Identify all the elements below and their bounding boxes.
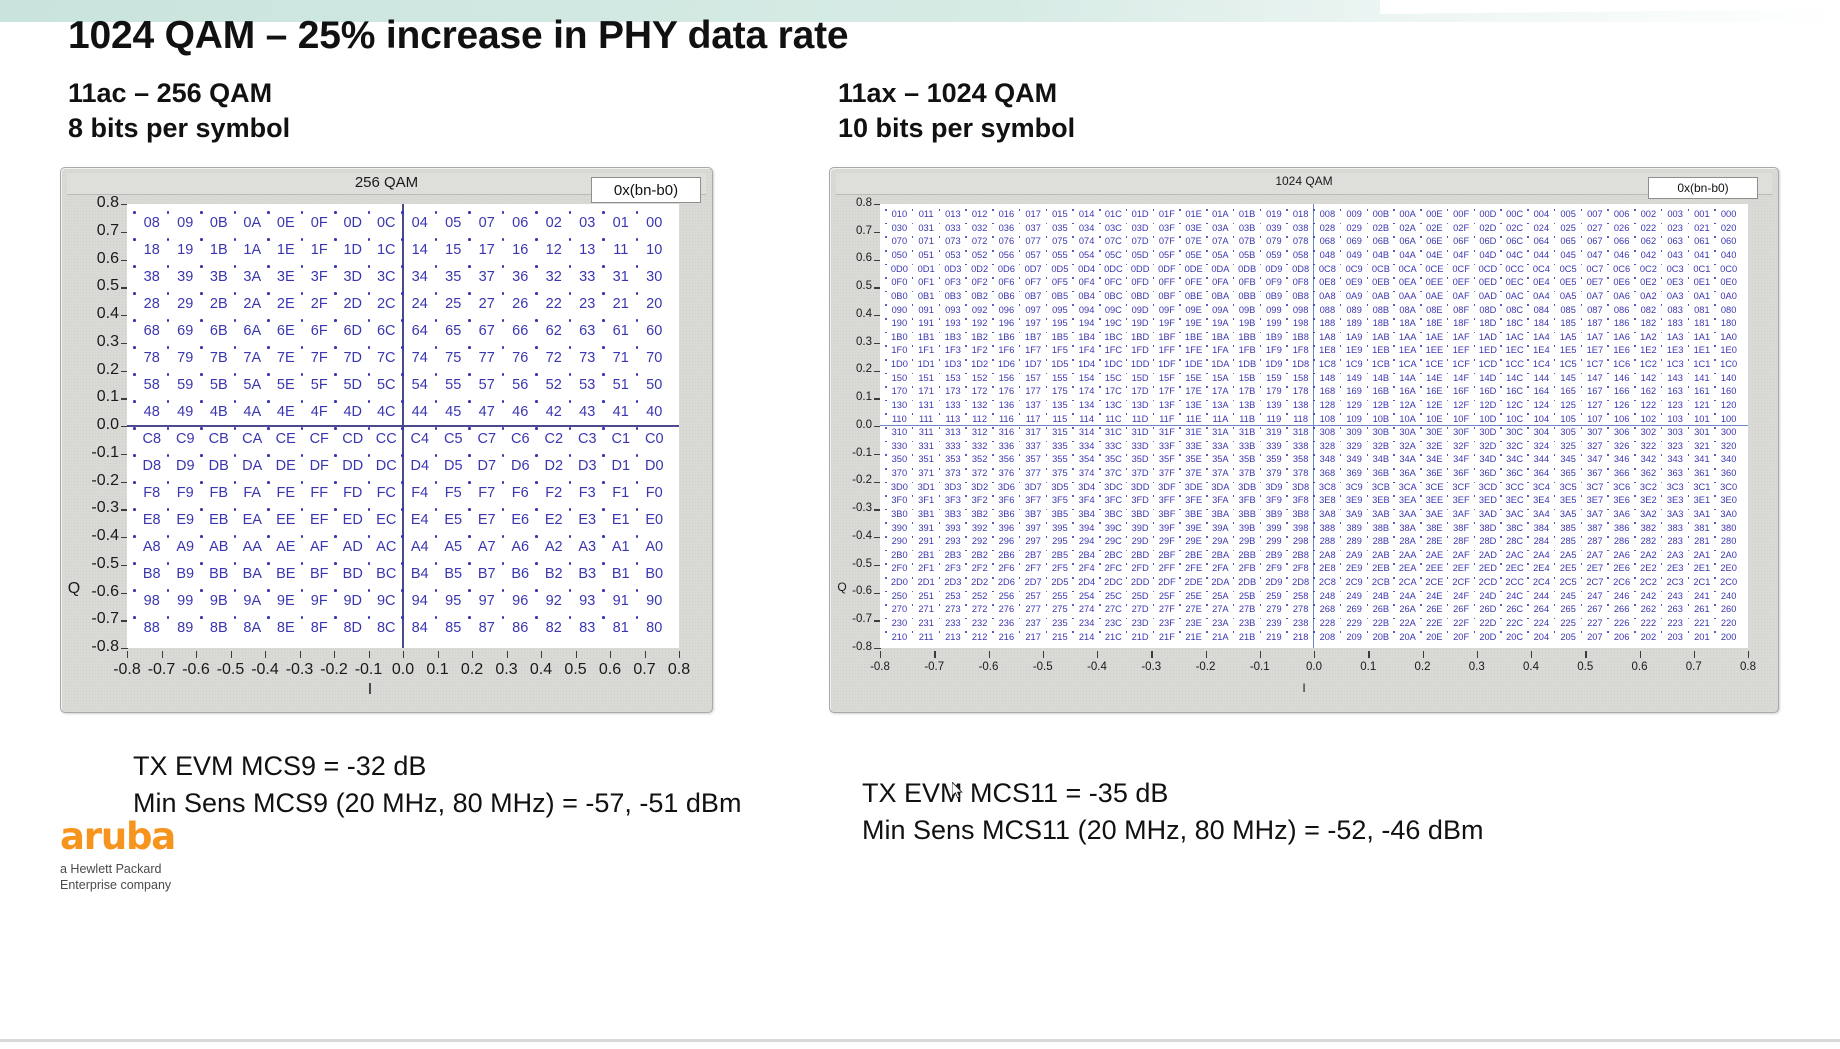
constellation-dot-icon: [1046, 522, 1048, 524]
constellation-point-label: 23B: [1239, 619, 1256, 628]
constellation-point: 0ED: [1475, 276, 1502, 290]
constellation-dot-icon: [1046, 373, 1048, 375]
constellation-dot-icon: [1260, 209, 1262, 211]
constellation-point-label: 38F: [1453, 524, 1469, 533]
constellation-point: 1AC: [1501, 331, 1528, 345]
constellation-point-label: 29B: [1239, 537, 1256, 546]
constellation-point: BD: [336, 561, 370, 588]
constellation-point-label: 32C: [1506, 442, 1523, 451]
constellation-point-label: 311: [919, 428, 934, 437]
constellation-dot-icon: [1313, 550, 1315, 552]
constellation-point: 0F: [303, 210, 337, 237]
constellation-point: 0D7: [1020, 263, 1047, 277]
constellation-point: 251: [913, 590, 940, 604]
constellation-point-label: 214: [1079, 633, 1095, 642]
constellation-point-label: D1: [611, 459, 630, 474]
constellation-dot-icon: [1688, 345, 1690, 347]
constellation-point: 29: [169, 291, 203, 318]
constellation-point: BA: [236, 561, 270, 588]
constellation-row: 48494B4A4E4F4D4C4445474642434140: [135, 399, 671, 426]
constellation-dot-icon: [1153, 304, 1155, 306]
constellation-point: 07E: [1180, 235, 1207, 249]
constellation-dot-icon: [468, 589, 471, 592]
constellation-point-label: 04A: [1399, 251, 1416, 260]
constellation-dot-icon: [1714, 373, 1716, 375]
chart-title-1024qam: 1024 QAM: [836, 174, 1772, 188]
constellation-dot-icon: [912, 495, 914, 497]
constellation-dot-icon: [1661, 631, 1663, 633]
constellation-point: 12: [537, 237, 571, 264]
constellation-point: 18B: [1368, 317, 1395, 331]
constellation-dot-icon: [1072, 563, 1074, 565]
constellation-dot-icon: [1099, 454, 1101, 456]
constellation-dot-icon: [1420, 427, 1422, 429]
constellation-point-label: 265: [1560, 605, 1576, 614]
constellation-point: A2: [537, 534, 571, 561]
constellation-point: 06E: [1421, 235, 1448, 249]
constellation-dot-icon: [602, 562, 605, 565]
constellation-point: 394: [1073, 521, 1100, 535]
constellation-point: 215: [1047, 630, 1074, 644]
constellation-dot-icon: [468, 508, 471, 511]
constellation-point: 354: [1073, 453, 1100, 467]
constellation-point-label: 081: [1694, 306, 1710, 315]
constellation-point: 7C: [370, 345, 404, 372]
constellation-dot-icon: [885, 304, 887, 306]
constellation-point-label: 05E: [1185, 251, 1202, 260]
constellation-point-label: 06D: [1479, 237, 1496, 246]
constellation-dot-icon: [1500, 318, 1502, 320]
constellation-dot-icon: [1634, 604, 1636, 606]
constellation-point: 94: [403, 588, 437, 615]
constellation-dot-icon: [1527, 591, 1529, 593]
constellation-point-label: 200: [1721, 633, 1737, 642]
constellation-point: 32C: [1501, 440, 1528, 454]
constellation-point: 066: [1608, 235, 1635, 249]
constellation-point-label: 29E: [1185, 537, 1202, 546]
constellation-dot-icon: [1286, 413, 1288, 415]
constellation-point-label: 340: [1721, 455, 1737, 464]
constellation-dot-icon: [992, 577, 994, 579]
constellation-point: 2C5: [1555, 576, 1582, 590]
constellation-point-label: 271: [918, 605, 934, 614]
constellation-point: 19: [169, 237, 203, 264]
constellation-point: 186: [1608, 317, 1635, 331]
constellation-dot-icon: [912, 359, 914, 361]
constellation-dot-icon: [992, 618, 994, 620]
constellation-point: 305: [1555, 426, 1582, 440]
constellation-point: 048: [1314, 249, 1341, 263]
constellation-point: C8: [135, 426, 169, 453]
constellation-point-label: 390: [892, 524, 908, 533]
constellation-dot-icon: [1581, 468, 1583, 470]
constellation-point: 3EC: [1501, 494, 1528, 508]
constellation-dot-icon: [1019, 522, 1021, 524]
constellation-dot-icon: [1153, 563, 1155, 565]
constellation-dot-icon: [368, 427, 371, 430]
constellation-point: A9: [169, 534, 203, 561]
constellation-point-label: 3A6: [1613, 510, 1630, 519]
constellation-dot-icon: [1688, 604, 1690, 606]
constellation-point-label: 1C2: [1640, 360, 1657, 369]
constellation-point: 32D: [1475, 440, 1502, 454]
constellation-point-label: 18B: [1373, 319, 1390, 328]
constellation-dot-icon: [992, 413, 994, 415]
constellation-dot-icon: [912, 223, 914, 225]
constellation-point: 286: [1608, 535, 1635, 549]
constellation-point: 370: [886, 467, 913, 481]
constellation-point-label: 065: [1560, 237, 1576, 246]
constellation-point-label: 093: [945, 306, 961, 315]
constellation-point-label: 11E: [1186, 415, 1202, 424]
constellation-point: 362: [1635, 467, 1662, 481]
constellation-point: 33D: [1127, 440, 1154, 454]
constellation-point: 3E5: [1555, 494, 1582, 508]
constellation-dot-icon: [1661, 550, 1663, 552]
constellation-point: 23B: [1234, 617, 1261, 631]
constellation-point-label: 31: [613, 270, 629, 285]
constellation-dot-icon: [912, 209, 914, 211]
constellation-dot-icon: [1233, 318, 1235, 320]
constellation-point: 34C: [1501, 453, 1528, 467]
constellation-point: 1DA: [1207, 358, 1234, 372]
constellation-point: AB: [202, 534, 236, 561]
constellation-point-label: 233: [945, 619, 961, 628]
constellation-point: 10A: [1394, 412, 1421, 426]
constellation-point: 262: [1635, 603, 1662, 617]
constellation-point-label: 0AD: [1479, 292, 1497, 301]
constellation-point-label: 235: [1052, 619, 1068, 628]
constellation-point: 1E1: [1689, 344, 1716, 358]
constellation-point: 28: [135, 291, 169, 318]
constellation-point: 5A: [236, 372, 270, 399]
constellation-point: 1AD: [1475, 331, 1502, 345]
constellation-point: 3C3: [1662, 481, 1689, 495]
constellation-point-label: 2C7: [1586, 578, 1603, 587]
constellation-point-label: C2: [544, 432, 563, 447]
constellation-point-label: 1FC: [1105, 346, 1123, 355]
constellation-point: 1E6: [1608, 344, 1635, 358]
constellation-dot-icon: [912, 509, 914, 511]
constellation-dot-icon: [1527, 332, 1529, 334]
constellation-point-label: 3A8: [1319, 510, 1336, 519]
constellation-point-label: 066: [1614, 237, 1630, 246]
constellation-point: 138: [1287, 399, 1314, 413]
constellation-point-label: 14F: [1453, 374, 1469, 383]
constellation-dot-icon: [992, 332, 994, 334]
constellation-point-label: 043: [1667, 251, 1683, 260]
constellation-dot-icon: [1046, 454, 1048, 456]
constellation-point: 2F9: [1261, 562, 1288, 576]
constellation-point-label: DD: [342, 459, 363, 474]
constellation-point-label: 1F3: [945, 346, 961, 355]
constellation-point: 21D: [1127, 630, 1154, 644]
constellation-point: 09E: [1180, 303, 1207, 317]
constellation-point: 133: [940, 399, 967, 413]
constellation-point: 083: [1662, 303, 1689, 317]
constellation-point: 169: [1341, 385, 1368, 399]
constellation-point-label: 262: [1641, 605, 1657, 614]
constellation-dot-icon: [1474, 631, 1476, 633]
constellation-point: 1B: [202, 237, 236, 264]
constellation-point-label: 14E: [1426, 374, 1443, 383]
constellation-dot-icon: [602, 454, 605, 457]
constellation-point-label: 8E: [277, 621, 295, 636]
constellation-dot-icon: [1286, 359, 1288, 361]
constellation-dot-icon: [468, 265, 471, 268]
constellation-dot-icon: [1554, 209, 1556, 211]
constellation-dot-icon: [1340, 482, 1342, 484]
constellation-dot-icon: [965, 304, 967, 306]
constellation-point-label: 24D: [1479, 592, 1496, 601]
constellation-point-label: 21E: [1185, 633, 1202, 642]
constellation-dot-icon: [1527, 550, 1529, 552]
constellation-point: 312: [966, 426, 993, 440]
constellation-point: E8: [135, 507, 169, 534]
constellation-dot-icon: [1688, 264, 1690, 266]
constellation-point-label: 248: [1320, 592, 1336, 601]
constellation-dot-icon: [1046, 318, 1048, 320]
constellation-point-label: 26: [512, 297, 528, 312]
constellation-point: 234: [1073, 617, 1100, 631]
constellation-dot-icon: [1393, 482, 1395, 484]
constellation-dot-icon: [1367, 495, 1369, 497]
constellation-point: 3C4: [1528, 481, 1555, 495]
constellation-dot-icon: [267, 238, 270, 241]
constellation-point: 0B8: [1287, 290, 1314, 304]
constellation-dot-icon: [167, 238, 170, 241]
constellation-point-label: 3D1: [918, 483, 935, 492]
constellation-point: 252: [966, 590, 993, 604]
constellation-dot-icon: [133, 238, 136, 241]
constellation-point-label: 354: [1079, 455, 1095, 464]
constellation-dot-icon: [1046, 604, 1048, 606]
constellation-point: 03A: [1207, 222, 1234, 236]
constellation-point-label: 318: [1293, 428, 1309, 437]
constellation-dot-icon: [1019, 209, 1021, 211]
constellation-point-label: 19E: [1185, 319, 1202, 328]
constellation-point-label: 1DD: [1131, 360, 1150, 369]
constellation-point-label: 272: [972, 605, 988, 614]
constellation-point: 11B: [1234, 412, 1261, 426]
constellation-point-label: 00B: [1373, 210, 1390, 219]
constellation-point-label: 2AF: [1453, 551, 1470, 560]
constellation-point: 3F5: [1047, 494, 1074, 508]
constellation-dot-icon: [1688, 536, 1690, 538]
constellation-point: 158: [1287, 372, 1314, 386]
constellation-point: 14: [403, 237, 437, 264]
constellation-point: 0A2: [1635, 290, 1662, 304]
x-axis-tick-mark: [1640, 651, 1641, 658]
constellation-dot-icon: [1179, 264, 1181, 266]
constellation-point: 141: [1689, 372, 1716, 386]
constellation-point-label: 086: [1614, 306, 1630, 315]
constellation-dot-icon: [1607, 550, 1609, 552]
constellation-dot-icon: [1634, 318, 1636, 320]
constellation-row: 18191B1A1E1F1D1C1415171612131110: [135, 237, 671, 264]
constellation-dot-icon: [234, 589, 237, 592]
constellation-dot-icon: [1661, 427, 1663, 429]
constellation-point-label: 085: [1560, 306, 1576, 315]
constellation-point-label: 0B8: [1292, 292, 1309, 301]
constellation-point: 3FC: [1100, 494, 1127, 508]
constellation-dot-icon: [1367, 454, 1369, 456]
constellation-point: 2AD: [1475, 549, 1502, 563]
constellation-dot-icon: [1554, 550, 1556, 552]
constellation-point: 3EA: [1394, 494, 1421, 508]
constellation-point: 3FA: [1207, 494, 1234, 508]
legend-box-256qam[interactable]: 0x(bn-b0): [591, 177, 701, 203]
constellation-dot-icon: [939, 318, 941, 320]
constellation-point: 279: [1261, 603, 1288, 617]
x-axis-tick-mark: [989, 651, 990, 658]
constellation-point: 367: [1582, 467, 1609, 481]
y-axis-tick-label: 0.6: [67, 250, 119, 268]
constellation-point: 1E7: [1582, 344, 1609, 358]
constellation-dot-icon: [1126, 264, 1128, 266]
constellation-dot-icon: [234, 427, 237, 430]
constellation-point-label: 094: [1079, 306, 1095, 315]
constellation-point-label: 330: [892, 442, 908, 451]
constellation-dot-icon: [1046, 236, 1048, 238]
constellation-point: 1E0: [1715, 344, 1742, 358]
constellation-point: 06: [504, 210, 538, 237]
constellation-point-label: 15D: [1132, 374, 1149, 383]
constellation-dot-icon: [1046, 400, 1048, 402]
constellation-point: C4: [403, 426, 437, 453]
constellation-point-label: 1F1: [918, 346, 934, 355]
constellation-point: 8D: [336, 615, 370, 642]
constellation-dot-icon: [1072, 550, 1074, 552]
constellation-point-label: 23F: [1159, 619, 1175, 628]
constellation-point-label: 1A1: [1694, 333, 1711, 342]
constellation-dot-icon: [1313, 413, 1315, 415]
constellation-point: 31D: [1127, 426, 1154, 440]
constellation-point-label: 231: [918, 619, 934, 628]
constellation-dot-icon: [992, 509, 994, 511]
constellation-point: 366: [1608, 467, 1635, 481]
constellation-dot-icon: [368, 265, 371, 268]
constellation-point-label: 71: [613, 351, 629, 366]
constellation-point: 13F: [1154, 399, 1181, 413]
constellation-dot-icon: [1206, 509, 1208, 511]
constellation-point-label: 224: [1534, 619, 1550, 628]
constellation-dot-icon: [267, 211, 270, 214]
constellation-point: D9: [169, 453, 203, 480]
constellation-point-label: 2E0: [1720, 564, 1737, 573]
constellation-point-label: 1F6: [998, 346, 1014, 355]
constellation-point-label: CE: [276, 432, 296, 447]
constellation-dot-icon: [1046, 413, 1048, 415]
constellation-point-label: 3CC: [1505, 483, 1524, 492]
constellation-dot-icon: [1206, 291, 1208, 293]
constellation-point-label: 362: [1641, 469, 1657, 478]
constellation-dot-icon: [1126, 236, 1128, 238]
constellation-dot-icon: [569, 400, 572, 403]
constellation-point-label: 0CB: [1372, 265, 1390, 274]
constellation-point-label: 74: [412, 351, 428, 366]
constellation-point-label: 029: [1346, 224, 1362, 233]
constellation-point: 18A: [1394, 317, 1421, 331]
legend-box-1024qam[interactable]: 0x(bn-b0): [1648, 177, 1758, 199]
constellation-point-label: 045: [1560, 251, 1576, 260]
constellation-point: 257: [1020, 590, 1047, 604]
constellation-point: 117: [1020, 412, 1047, 426]
constellation-point-label: 3E5: [1560, 496, 1577, 505]
constellation-dot-icon: [1688, 577, 1690, 579]
constellation-point: 089: [1341, 303, 1368, 317]
constellation-point-label: 247: [1587, 592, 1603, 601]
constellation-point-label: F9: [177, 486, 194, 501]
constellation-point-label: 79: [177, 351, 193, 366]
constellation-point: 302: [1635, 426, 1662, 440]
constellation-point-label: 088: [1320, 306, 1336, 315]
constellation-point-label: B4: [411, 567, 429, 582]
constellation-point: 1EF: [1448, 344, 1475, 358]
constellation-dot-icon: [1634, 223, 1636, 225]
constellation-dot-icon: [992, 223, 994, 225]
constellation-point-label: F5: [445, 486, 462, 501]
constellation-point-label: A2: [545, 540, 563, 555]
constellation-point: 2D4: [1073, 576, 1100, 590]
constellation-dot-icon: [1420, 522, 1422, 524]
constellation-point-label: A9: [176, 540, 194, 555]
constellation-dot-icon: [992, 427, 994, 429]
constellation-point: 25D: [1127, 590, 1154, 604]
constellation-dot-icon: [368, 400, 371, 403]
constellation-point: 20: [638, 291, 672, 318]
constellation-dot-icon: [636, 346, 639, 349]
constellation-dot-icon: [368, 211, 371, 214]
constellation-point: 1CA: [1394, 358, 1421, 372]
constellation-point-label: 13B: [1239, 401, 1256, 410]
constellation-dot-icon: [1554, 631, 1556, 633]
constellation-point-label: 2D2: [971, 578, 988, 587]
constellation-dot-icon: [1153, 318, 1155, 320]
constellation-point-label: 015: [1052, 210, 1068, 219]
constellation-point: 25B: [1234, 590, 1261, 604]
x-axis-tick-mark: [507, 651, 508, 658]
constellation-point-label: 34E: [1426, 455, 1443, 464]
constellation-dot-icon: [939, 413, 941, 415]
constellation-point-label: 07C: [1105, 237, 1122, 246]
constellation-point: 161: [1689, 385, 1716, 399]
constellation-point: 1EC: [1501, 344, 1528, 358]
constellation-dot-icon: [234, 211, 237, 214]
constellation-point-label: 255: [1052, 592, 1068, 601]
constellation-dot-icon: [912, 468, 914, 470]
constellation-point: 05D: [1127, 249, 1154, 263]
constellation-dot-icon: [1688, 223, 1690, 225]
constellation-point-label: 3F4: [1079, 496, 1095, 505]
constellation-point-label: 32A: [1399, 442, 1416, 451]
constellation-point-label: 2FE: [1185, 564, 1202, 573]
constellation-dot-icon: [1046, 209, 1048, 211]
constellation-point-label: 222: [1641, 619, 1657, 628]
constellation-point: 170: [886, 385, 913, 399]
constellation-point: 6D: [336, 318, 370, 345]
constellation-dot-icon: [535, 427, 538, 430]
constellation-point: 3D8: [1287, 481, 1314, 495]
constellation-dot-icon: [1233, 522, 1235, 524]
constellation-dot-icon: [1661, 482, 1663, 484]
constellation-dot-icon: [1367, 550, 1369, 552]
constellation-point-label: 2E3: [1667, 564, 1684, 573]
constellation-point-label: 3DE: [1185, 483, 1203, 492]
constellation-point: 178: [1287, 385, 1314, 399]
constellation-point-label: 22: [546, 297, 562, 312]
constellation-point-label: 070: [892, 237, 908, 246]
